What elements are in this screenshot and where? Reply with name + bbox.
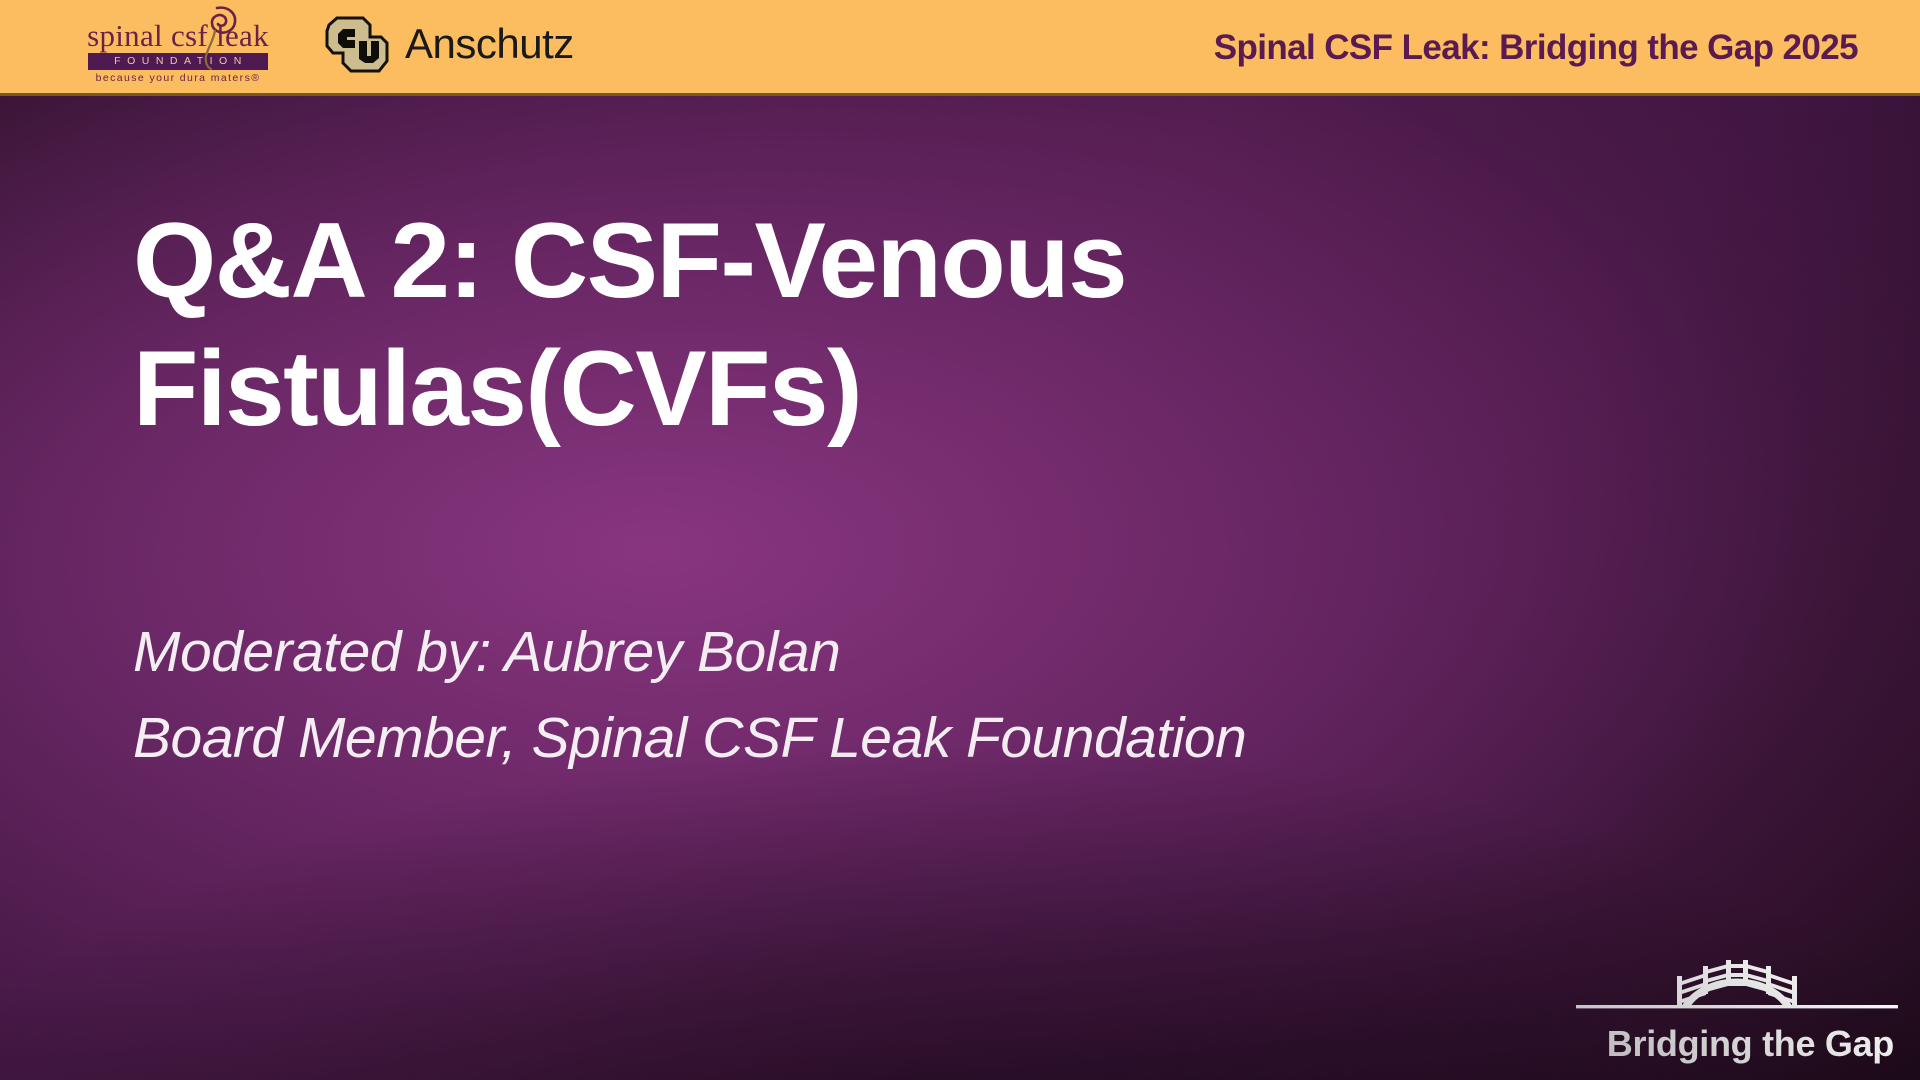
foundation-tagline: because your dura maters® <box>80 72 276 84</box>
slide-title-line-2: Fistulas(CVFs) <box>133 324 1383 452</box>
slide-body: Q&A 2: CSF-Venous Fistulas(CVFs) Moderat… <box>0 96 1920 1080</box>
event-title: Spinal CSF Leak: Bridging the Gap 2025 <box>1214 0 1858 96</box>
cu-anschutz-wordmark: Anschutz <box>405 23 574 69</box>
header-logo-group: spinal csf leak FOUNDATION because your … <box>0 0 620 96</box>
spinal-csf-leak-foundation-logo: spinal csf leak FOUNDATION because your … <box>80 6 276 90</box>
bridge-icon <box>1576 952 1898 1016</box>
slide-title: Q&A 2: CSF-Venous Fistulas(CVFs) <box>133 196 1383 452</box>
cu-interlocking-monogram-icon <box>325 15 391 77</box>
bridging-the-gap-lockup: Bridging the Gap <box>1576 952 1898 1064</box>
slide-canvas: spinal csf leak FOUNDATION because your … <box>0 0 1920 1080</box>
foundation-wordmark: spinal csf leak <box>80 20 276 51</box>
slide-title-line-1: Q&A 2: CSF-Venous <box>133 196 1383 324</box>
foundation-bar-label: FOUNDATION <box>88 53 268 70</box>
foundation-bar: FOUNDATION <box>88 53 268 70</box>
cu-anschutz-logo: Anschutz <box>325 14 574 78</box>
moderator-line: Moderated by: Aubrey Bolan <box>133 609 1483 695</box>
bridging-the-gap-label: Bridging the Gap <box>1576 1024 1898 1064</box>
slide-subtitle: Moderated by: Aubrey Bolan Board Member,… <box>133 609 1483 781</box>
slide-header-bar: spinal csf leak FOUNDATION because your … <box>0 0 1920 96</box>
moderator-affiliation-line: Board Member, Spinal CSF Leak Foundation <box>133 695 1483 781</box>
